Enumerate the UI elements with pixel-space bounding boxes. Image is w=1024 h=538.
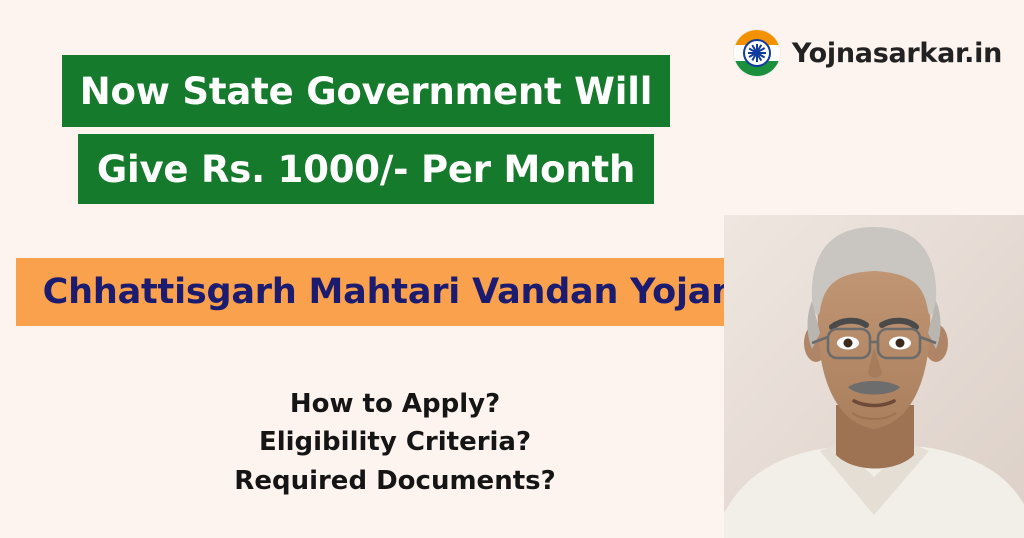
politician-portrait bbox=[724, 215, 1024, 538]
portrait-illustration bbox=[724, 215, 1024, 538]
scheme-title-bar: Chhattisgarh Mahtari Vandan Yojana bbox=[16, 258, 786, 326]
ashoka-chakra-flag-icon bbox=[734, 30, 780, 76]
scheme-title: Chhattisgarh Mahtari Vandan Yojana bbox=[43, 272, 760, 312]
headline-bar-secondary: Give Rs. 1000/- Per Month bbox=[78, 134, 654, 204]
headline-line-2: Give Rs. 1000/- Per Month bbox=[97, 148, 635, 191]
headline-bar-primary: Now State Government Will bbox=[62, 55, 670, 127]
question-item-3: Required Documents? bbox=[180, 462, 610, 500]
question-list: How to Apply? Eligibility Criteria? Requ… bbox=[180, 385, 610, 500]
question-item-1: How to Apply? bbox=[180, 385, 610, 423]
brand-name: Yojnasarkar.in bbox=[792, 38, 1002, 69]
brand-logo[interactable]: Yojnasarkar.in bbox=[734, 30, 1002, 76]
headline-line-1: Now State Government Will bbox=[80, 70, 652, 113]
poster-banner: Yojnasarkar.in Now State Government Will… bbox=[0, 0, 1024, 538]
question-item-2: Eligibility Criteria? bbox=[180, 423, 610, 461]
